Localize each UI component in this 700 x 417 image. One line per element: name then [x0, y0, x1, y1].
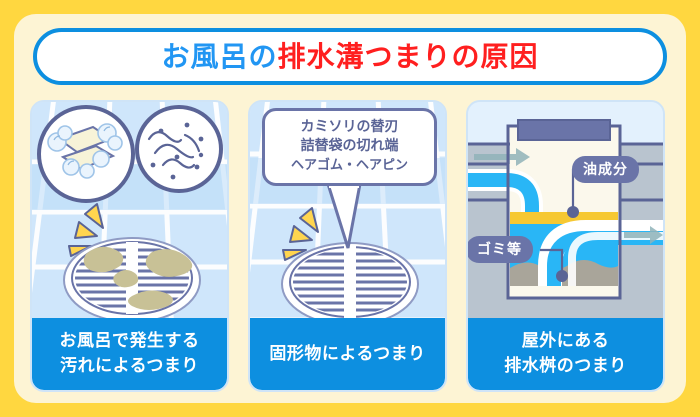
panel-solid-objects[interactable]: カミソリの替刃 詰替袋の切れ端 ヘアゴム・ヘアピン [248, 100, 447, 392]
panel-1-label-line1: お風呂で発生する [60, 329, 200, 354]
soap-bubbles-icon [37, 105, 135, 203]
panel-3-artwork: 油成分 ゴミ等 [468, 102, 663, 330]
panel-bath-dirt[interactable]: お風呂で発生する 汚れによるつまり [30, 100, 229, 392]
title-bar: お風呂の排水溝つまりの原因 [33, 28, 667, 85]
drain-basin-icon [468, 102, 663, 330]
speech-bubble-icon: カミソリの替刃 詰替袋の切れ端 ヘアゴム・ヘアピン [262, 108, 437, 186]
title-part-red: 排水溝つまりの原因 [278, 40, 539, 73]
debris-callout-label: ゴミ等 [468, 236, 533, 263]
debris-callout-dot [556, 270, 568, 282]
title-part-blue: お風呂の [161, 40, 277, 73]
panel-2-label-line1: 固形物によるつまり [269, 342, 425, 367]
panel-1-label: お風呂で発生する 汚れによるつまり [32, 318, 227, 390]
hair-strands-icon [135, 105, 223, 193]
panel-outdoor-basin[interactable]: 油成分 ゴミ等 屋外にある 排水桝のつまり [466, 100, 665, 392]
dirt-blob-icon [56, 228, 216, 324]
panel-1-artwork [32, 102, 227, 330]
bubble-tail-icon [326, 182, 386, 252]
panel-3-label-line2: 排水桝のつまり [504, 354, 627, 379]
bubble-line-1: カミソリの替刃 [269, 118, 430, 137]
panel-3-label: 屋外にある 排水桝のつまり [468, 318, 663, 390]
oil-callout-label: 油成分 [572, 156, 639, 183]
panel-2-label: 固形物によるつまり [250, 318, 445, 390]
page-title: お風呂の排水溝つまりの原因 [161, 43, 538, 71]
bubble-line-2: 詰替袋の切れ端 [269, 137, 430, 156]
panel-3-label-line1: 屋外にある [522, 329, 610, 354]
panel-2-artwork: カミソリの替刃 詰替袋の切れ端 ヘアゴム・ヘアピン [250, 102, 445, 330]
infographic-root: お風呂の排水溝つまりの原因 [0, 0, 700, 417]
panel-1-label-line2: 汚れによるつまり [60, 354, 199, 379]
oil-callout-dot [567, 206, 579, 218]
bubble-line-3: ヘアゴム・ヘアピン [269, 157, 430, 175]
